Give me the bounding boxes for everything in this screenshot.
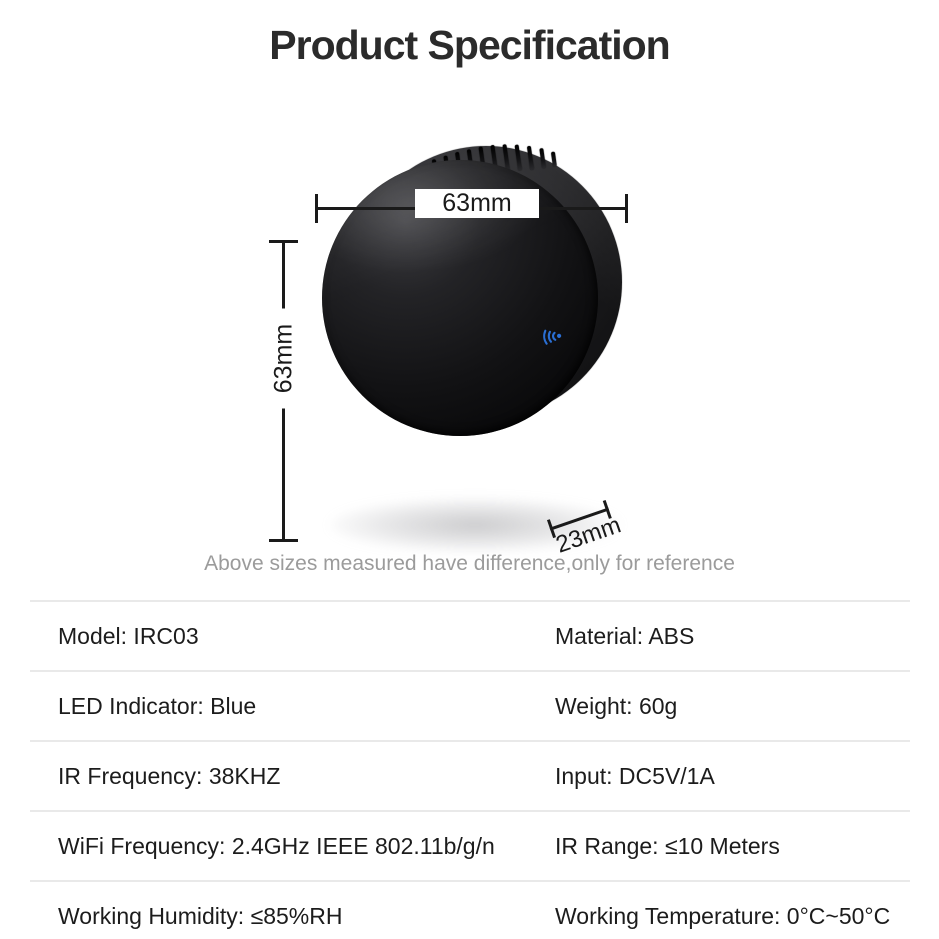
wifi-signal-icon (539, 323, 568, 352)
product-hero: 63mm 63mm 23mm (0, 90, 939, 540)
height-dimension-label: 63mm (266, 309, 303, 409)
spec-cell-right: Working Temperature: 0°C~50°C (527, 903, 910, 930)
page-title: Product Specification (0, 22, 939, 69)
height-dimension-cap-bottom (269, 539, 298, 542)
spec-cell-right: Input: DC5V/1A (527, 763, 910, 790)
width-dimension-cap-right (625, 194, 628, 223)
spec-row: WiFi Frequency: 2.4GHz IEEE 802.11b/g/nI… (30, 810, 910, 880)
spec-cell-left: WiFi Frequency: 2.4GHz IEEE 802.11b/g/n (30, 833, 527, 860)
size-disclaimer: Above sizes measured have difference,onl… (0, 552, 939, 576)
spec-cell-left: IR Frequency: 38KHZ (30, 763, 527, 790)
spec-row: Model: IRC03Material: ABS (30, 600, 910, 670)
spec-cell-left: LED Indicator: Blue (30, 693, 527, 720)
specification-table: Model: IRC03Material: ABSLED Indicator: … (30, 600, 910, 939)
spec-row: LED Indicator: BlueWeight: 60g (30, 670, 910, 740)
width-dimension-label: 63mm (415, 189, 539, 218)
product-device-image (322, 138, 622, 438)
product-specification-page: Product Specification (0, 0, 939, 939)
height-dimension-cap-top (269, 240, 298, 243)
width-dimension-cap-left (315, 194, 318, 223)
spec-cell-right: Material: ABS (527, 623, 910, 650)
spec-cell-left: Working Humidity: ≤85%RH (30, 903, 527, 930)
spec-row: IR Frequency: 38KHZInput: DC5V/1A (30, 740, 910, 810)
spec-row: Working Humidity: ≤85%RHWorking Temperat… (30, 880, 910, 939)
spec-cell-right: Weight: 60g (527, 693, 910, 720)
spec-cell-left: Model: IRC03 (30, 623, 527, 650)
spec-cell-right: IR Range: ≤10 Meters (527, 833, 910, 860)
